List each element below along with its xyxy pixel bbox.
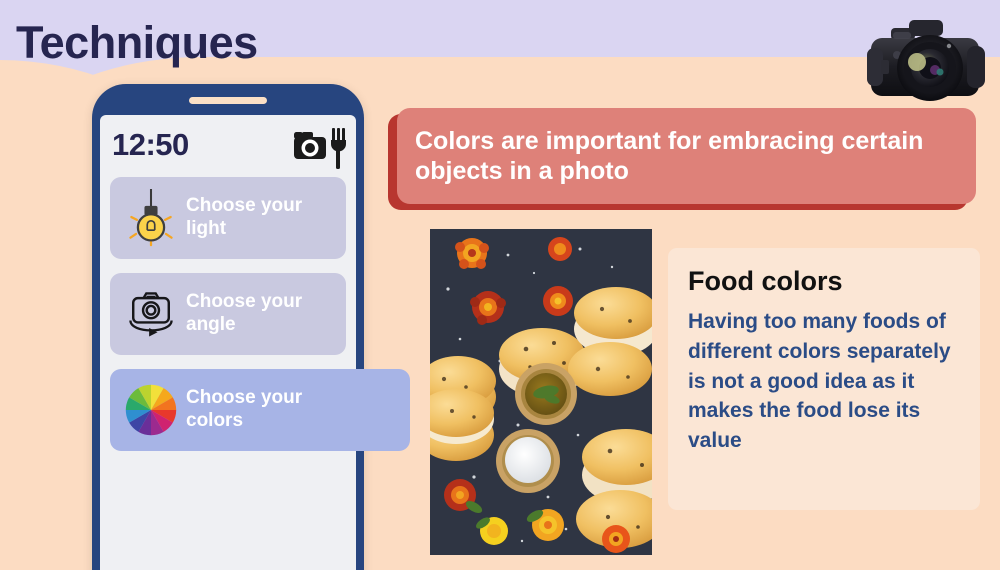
info-card: Food colors Having too many foods of dif…	[668, 248, 980, 510]
phone-time: 12:50	[112, 127, 189, 163]
list-item-label: Choose your light	[186, 195, 338, 241]
info-heading: Food colors	[688, 266, 960, 297]
headline-banner: Colors are important for embracing certa…	[388, 108, 976, 208]
phone-mockup: 12:50	[92, 84, 364, 570]
list-item[interactable]: Choose your colors	[110, 369, 410, 451]
page-title: Techniques	[16, 17, 258, 69]
slide-canvas: Techniques	[0, 0, 1000, 570]
list-item-label: Choose your angle	[186, 291, 338, 337]
phone-status-bar: 12:50	[100, 115, 356, 177]
banner-body: Colors are important for embracing certa…	[397, 108, 976, 204]
food-flatlay-photo	[430, 229, 652, 555]
phone-speaker	[189, 97, 267, 104]
list-item[interactable]: Choose your light	[110, 177, 346, 259]
dslr-camera-illustration	[857, 8, 992, 113]
list-item[interactable]: Choose your angle	[110, 273, 346, 355]
phone-screen: 12:50	[100, 115, 356, 570]
info-body: Having too many foods of different color…	[688, 307, 960, 456]
banner-text: Colors are important for embracing certa…	[415, 126, 958, 187]
camera-rotate-icon	[118, 283, 184, 345]
lightbulb-icon	[118, 187, 184, 249]
color-wheel-icon	[118, 379, 184, 441]
list-item-label: Choose your colors	[186, 387, 354, 433]
camera-fork-logo-icon	[292, 123, 346, 173]
